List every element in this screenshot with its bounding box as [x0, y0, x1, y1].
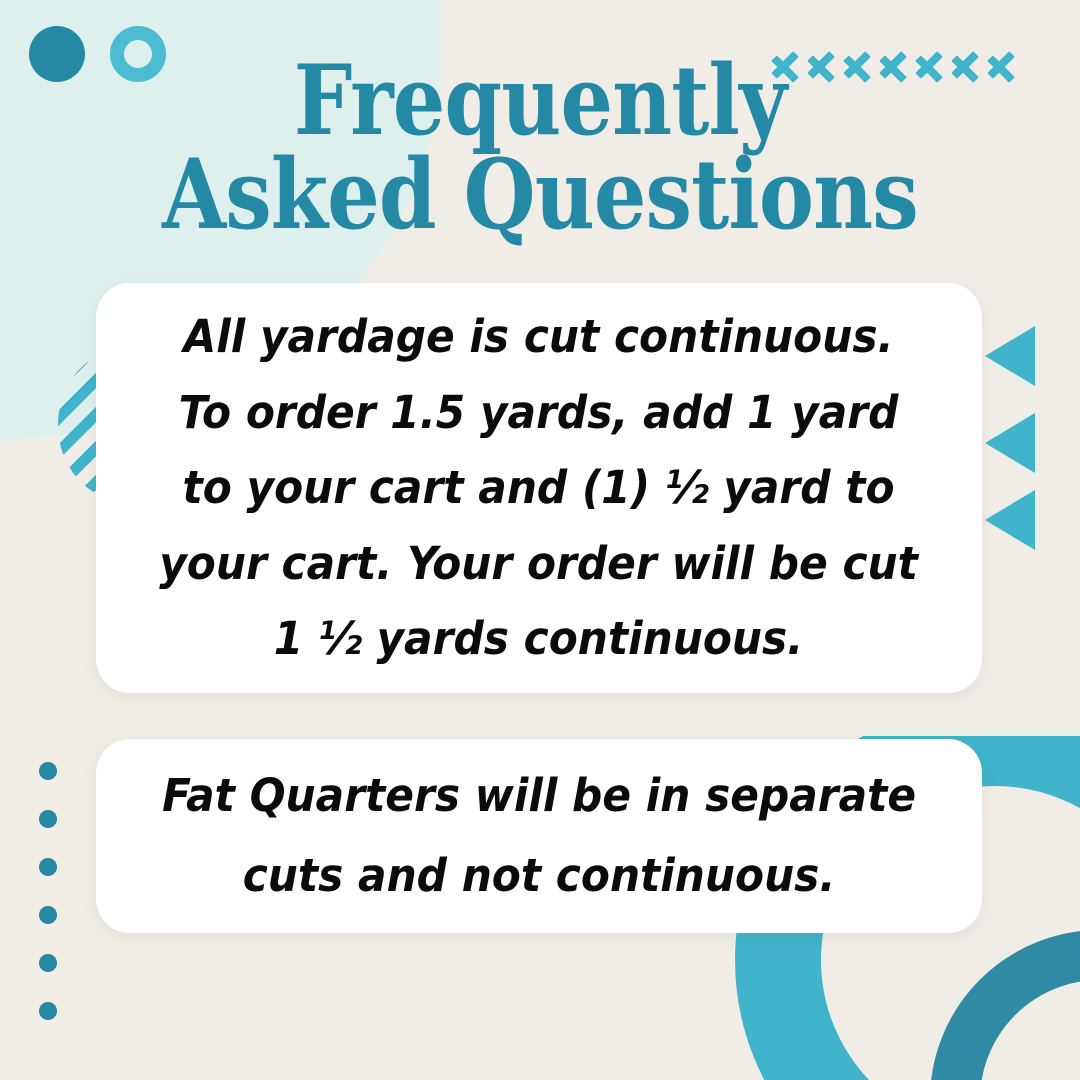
page-title: Frequently Asked Questions: [76, 54, 1005, 242]
faq-card-2-text: Fat Quarters will be in separate cuts an…: [141, 756, 936, 916]
dot-icon: [39, 906, 57, 924]
faq-card-2-line-2: cuts and not continuous.: [243, 849, 836, 902]
faq-card-1-text: All yardage is cut continuous. To order …: [139, 299, 939, 677]
dot-icon: [39, 954, 57, 972]
page-title-line-1: Frequently: [76, 54, 1005, 148]
dot-icon: [39, 810, 57, 828]
triangle-left-icon: [985, 326, 1035, 386]
faq-graphic-canvas: Frequently Asked Questions All yardage i…: [0, 0, 1080, 1080]
dot-icon: [39, 1002, 57, 1020]
page-title-line-2: Asked Questions: [76, 148, 1005, 242]
triangle-left-icon: [985, 413, 1035, 473]
faq-card-2: Fat Quarters will be in separate cuts an…: [96, 739, 982, 933]
faq-card-2-line-1: Fat Quarters will be in separate: [162, 769, 916, 822]
faq-card-1-line-2: To order 1.5 yards, add 1 yard: [179, 386, 899, 439]
arc-mask: [700, 700, 1080, 736]
faq-card-1: All yardage is cut continuous. To order …: [96, 283, 982, 693]
dot-column: [39, 762, 57, 1020]
faq-card-1-line-4: your cart. Your order will be cut: [160, 537, 919, 590]
dot-icon: [39, 858, 57, 876]
dot-icon: [39, 762, 57, 780]
faq-card-1-line-1: All yardage is cut continuous.: [184, 310, 894, 363]
faq-card-1-line-5: 1 ½ yards continuous.: [274, 612, 803, 665]
chevron-left-icon: [1011, 40, 1041, 86]
faq-card-1-line-3: to your cart and (1) ½ yard to: [183, 461, 895, 514]
triangle-left-icon: [985, 490, 1035, 550]
